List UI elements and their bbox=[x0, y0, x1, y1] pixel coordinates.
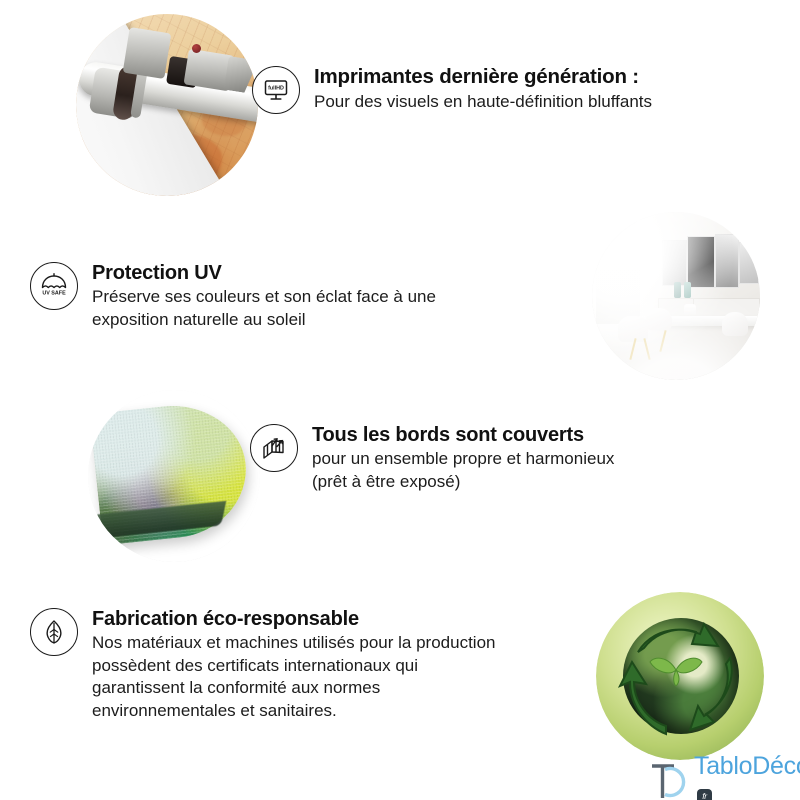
desc-line: possèdent des certificats internationaux… bbox=[92, 655, 495, 677]
desc-line: garantissent la conformité aux normes bbox=[92, 677, 495, 699]
tablodeco-monogram-icon bbox=[648, 760, 690, 800]
promo-infographic: fullHD Imprimantes dernière génération :… bbox=[0, 0, 800, 800]
printer-red-indicator bbox=[192, 44, 201, 53]
leaf-sprig-icon bbox=[648, 650, 704, 686]
feature-printers: fullHD Imprimantes dernière génération :… bbox=[252, 66, 652, 114]
feature-uv-protection: UV SAFE Protection UV Préserve ses coule… bbox=[30, 262, 436, 331]
feature-edges-description: pour un ensemble propre et harmonieux (p… bbox=[312, 448, 614, 493]
photo-eco-globe bbox=[596, 592, 764, 760]
feature-eco-description: Nos matériaux et machines utilisés pour … bbox=[92, 632, 495, 722]
uv-safe-icon-label: UV SAFE bbox=[42, 291, 66, 297]
room-light-glow bbox=[592, 212, 760, 380]
leaf-icon bbox=[30, 608, 78, 656]
desc-line: Nos matériaux et machines utilisés pour … bbox=[92, 632, 495, 654]
desc-line: pour un ensemble propre et harmonieux bbox=[312, 448, 614, 470]
desc-line: exposition naturelle au soleil bbox=[92, 309, 436, 331]
feature-uv-title: Protection UV bbox=[92, 262, 436, 284]
feature-printers-description: Pour des visuels en haute-définition blu… bbox=[314, 91, 652, 113]
feature-uv-text: Protection UV Préserve ses couleurs et s… bbox=[92, 262, 436, 331]
feature-edges-title: Tous les bords sont couverts bbox=[312, 424, 614, 446]
photo-canvas-corner bbox=[88, 390, 260, 562]
tld-badge: fr bbox=[697, 789, 712, 800]
feature-eco-manufacturing: Fabrication éco-responsable Nos matériau… bbox=[30, 608, 495, 722]
desc-line: environnementales et sanitaires. bbox=[92, 700, 495, 722]
brand-logo[interactable]: TabloDéco™fr bbox=[648, 752, 800, 800]
feature-uv-description: Préserve ses couleurs et son éclat face … bbox=[92, 286, 436, 331]
desc-line: Préserve ses couleurs et son éclat face … bbox=[92, 286, 436, 308]
brand-name: TabloDéco bbox=[694, 752, 800, 780]
photo-interior-dining-room bbox=[592, 212, 760, 380]
desc-line: (prêt à être exposé) bbox=[312, 471, 614, 493]
uv-safe-umbrella-icon: UV SAFE bbox=[30, 262, 78, 310]
feature-printers-title: Imprimantes dernière génération : bbox=[314, 66, 652, 89]
fullhd-monitor-icon: fullHD bbox=[252, 66, 300, 114]
feature-eco-title: Fabrication éco-responsable bbox=[92, 608, 495, 630]
photo-printer-roller-map bbox=[76, 14, 258, 196]
wrapped-edge-arrows-icon bbox=[250, 424, 298, 472]
feature-eco-text: Fabrication éco-responsable Nos matériau… bbox=[92, 608, 495, 722]
feature-covered-edges: Tous les bords sont couverts pour un ens… bbox=[250, 424, 614, 493]
brand-wordmark: TabloDéco™fr bbox=[694, 752, 800, 800]
feature-edges-text: Tous les bords sont couverts pour un ens… bbox=[312, 424, 614, 493]
feature-printers-text: Imprimantes dernière génération : Pour d… bbox=[314, 66, 652, 113]
printer-bracket bbox=[123, 27, 172, 79]
desc-line: Pour des visuels en haute-définition blu… bbox=[314, 91, 652, 113]
fullhd-icon-label: fullHD bbox=[268, 86, 284, 92]
